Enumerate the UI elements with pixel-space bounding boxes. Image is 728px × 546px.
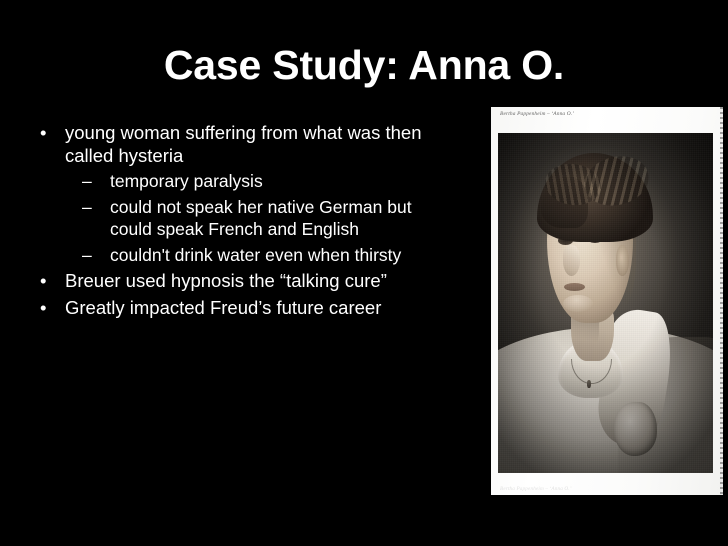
dash-marker-icon: – <box>82 244 92 267</box>
scanned-page-figure: Bertha Pappenheim – ‘Anna O.’ <box>491 107 723 495</box>
sub-list-item-text: temporary paralysis <box>110 171 263 191</box>
bullet-marker-icon: • <box>40 270 46 293</box>
bullet-marker-icon: • <box>40 122 46 145</box>
list-item-text: Greatly impacted Freud’s future career <box>65 297 381 318</box>
list-item-text: young woman suffering from what was then… <box>65 122 422 166</box>
list-item: • young woman suffering from what was th… <box>30 122 430 266</box>
sub-bullet-list: – temporary paralysis – could not speak … <box>65 170 430 266</box>
bullet-list: • young woman suffering from what was th… <box>30 122 430 323</box>
sub-list-item: – couldn't drink water even when thirsty <box>78 244 430 267</box>
dash-marker-icon: – <box>82 196 92 219</box>
bullet-marker-icon: • <box>40 297 46 320</box>
dash-marker-icon: – <box>82 170 92 193</box>
page-title: Case Study: Anna O. <box>0 41 728 89</box>
sub-list-item-text: couldn't drink water even when thirsty <box>110 245 401 265</box>
figure-caption-bottom: Bertha Pappenheim – ‘Anna O.’ <box>500 486 572 492</box>
scanned-page-edge <box>720 107 723 495</box>
list-item: • Breuer used hypnosis the “talking cure… <box>30 270 430 293</box>
list-item: • Greatly impacted Freud’s future career <box>30 297 430 320</box>
list-item-text: Breuer used hypnosis the “talking cure” <box>65 270 387 291</box>
slide-canvas: Case Study: Anna O. • young woman suffer… <box>0 0 728 546</box>
sub-list-item: – could not speak her native German but … <box>78 196 430 241</box>
photo-grain-overlay <box>498 133 713 473</box>
sub-list-item: – temporary paralysis <box>78 170 430 193</box>
portrait-photo <box>498 133 713 473</box>
sub-list-item-text: could not speak her native German but co… <box>110 197 412 240</box>
figure-caption-top: Bertha Pappenheim – ‘Anna O.’ <box>500 111 574 117</box>
